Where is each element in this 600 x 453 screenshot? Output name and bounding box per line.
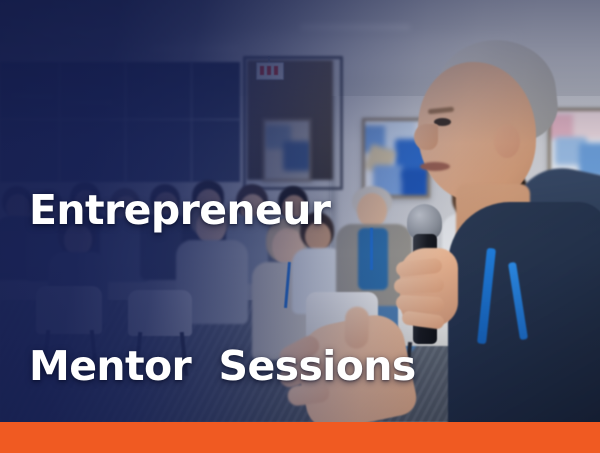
banner-headline: Entrepreneur Mentor Sessions with Craig … (29, 80, 449, 453)
headline-line-2: Mentor Sessions (29, 340, 449, 392)
orange-accent-bar (0, 422, 600, 453)
event-promo-banner: Entrepreneur Mentor Sessions with Craig … (0, 0, 600, 453)
headline-line-1: Entrepreneur (29, 184, 449, 236)
